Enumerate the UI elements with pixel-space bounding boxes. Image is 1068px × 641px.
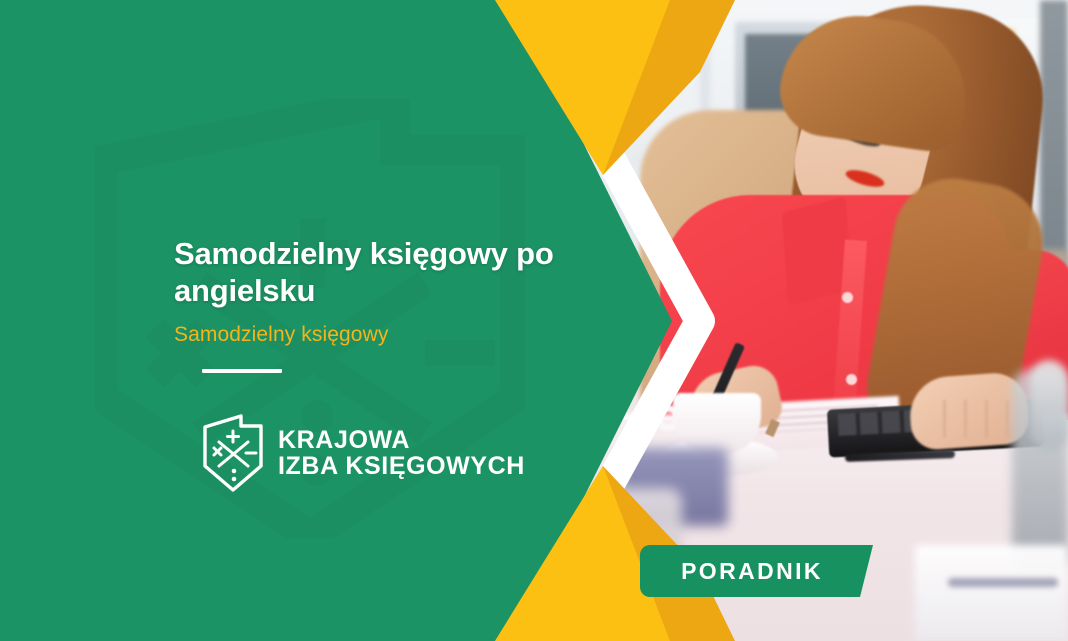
foreground-document-line xyxy=(948,578,1058,587)
banner-text-block: Samodzielny księgowy po angielsku Samodz… xyxy=(174,236,644,373)
logo-line-2: IZBA KSIĘGOWYCH xyxy=(278,453,525,479)
shirt-button xyxy=(846,374,857,385)
banner-title: Samodzielny księgowy po angielsku xyxy=(174,236,612,309)
brand-logo: KRAJOWA IZBA KSIĘGOWYCH xyxy=(202,414,525,492)
logo-wordmark: KRAJOWA IZBA KSIĘGOWYCH xyxy=(278,427,525,479)
badge-label: PORADNIK xyxy=(640,545,858,597)
title-divider xyxy=(202,369,282,373)
shirt-button xyxy=(842,292,853,303)
binder-left-label xyxy=(643,50,659,92)
shield-math-symbols-icon xyxy=(202,414,264,492)
foreground-document xyxy=(915,545,1068,641)
poradnik-badge[interactable]: PORADNIK xyxy=(640,545,876,597)
promo-banner: Samodzielny księgowy po angielsku Samodz… xyxy=(0,0,1068,641)
desk-lamp-head xyxy=(1030,360,1068,450)
logo-line-1: KRAJOWA xyxy=(278,427,525,453)
banner-subtitle: Samodzielny księgowy xyxy=(174,322,644,347)
fingers xyxy=(925,400,1021,438)
